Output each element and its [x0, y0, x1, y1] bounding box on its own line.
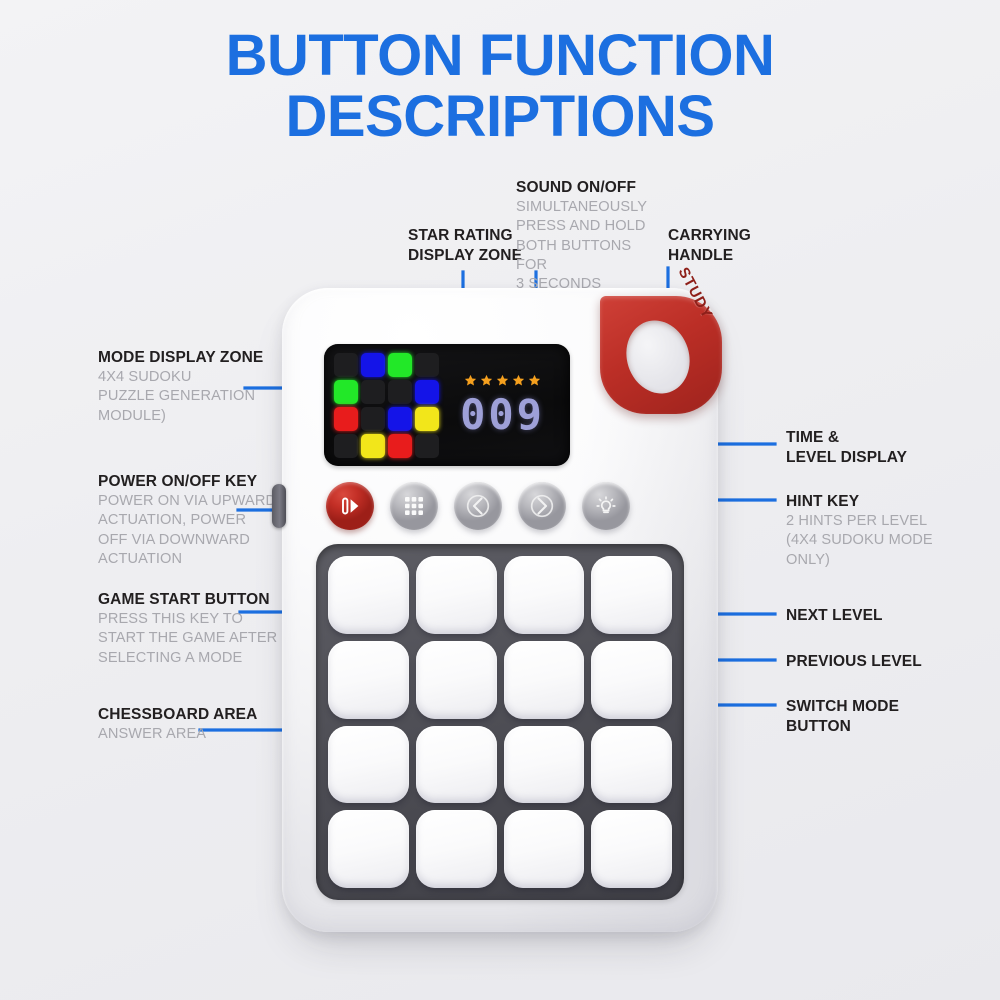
lightbulb-icon [594, 494, 618, 518]
chessboard-key[interactable] [328, 556, 409, 634]
next-heading: NEXT LEVEL [786, 606, 986, 626]
annotation-time-level-display: TIME &LEVEL DISPLAY [786, 428, 986, 468]
prev-heading: PREVIOUS LEVEL [786, 652, 986, 672]
chessboard-key[interactable] [504, 641, 585, 719]
star-rating-display [464, 374, 541, 387]
mode-cell-0-3 [415, 353, 439, 377]
start-body: PRESS THIS KEY TOSTART THE GAME AFTERSEL… [98, 610, 298, 668]
power-switch-slider[interactable] [272, 484, 286, 528]
chessboard-key[interactable] [328, 641, 409, 719]
play-pause-icon [337, 493, 363, 519]
chessboard-key[interactable] [591, 641, 672, 719]
mode-cell-1-0 [334, 380, 358, 404]
device-body: STUDY 009 [282, 288, 718, 932]
mode-cell-3-0 [334, 434, 358, 458]
mode-cell-1-2 [388, 380, 412, 404]
chevron-left-icon [465, 493, 491, 519]
chessboard-key[interactable] [416, 726, 497, 804]
level-digits: 009 [460, 394, 545, 436]
chessboard-key[interactable] [416, 641, 497, 719]
hint-button[interactable] [582, 482, 630, 530]
chevron-right-icon [529, 493, 555, 519]
mode-cell-1-3 [415, 380, 439, 404]
star-icon [464, 374, 477, 387]
mode-body: 4X4 SUDOKUPUZZLE GENERATIONMODULE) [98, 368, 278, 426]
annotation-power-key: POWER ON/OFF KEY POWER ON VIA UPWARDACTU… [98, 472, 284, 569]
mode-heading: MODE DISPLAY ZONE [98, 348, 278, 368]
annotation-star-rating: STAR RATINGDISPLAY ZONE [408, 226, 528, 266]
star-icon [512, 374, 525, 387]
grid-icon [403, 495, 425, 517]
mode-cell-0-1 [361, 353, 385, 377]
chessboard-key[interactable] [504, 556, 585, 634]
hint-body: 2 HINTS PER LEVEL(4X4 SUDOKU MODEONLY) [786, 512, 986, 570]
power-body: POWER ON VIA UPWARDACTUATION, POWEROFF V… [98, 492, 284, 570]
star-rating-heading: STAR RATINGDISPLAY ZONE [408, 226, 528, 266]
mode-cell-0-0 [334, 353, 358, 377]
carrying-handle[interactable]: STUDY [600, 296, 722, 414]
screen-right-panel: 009 [439, 374, 560, 436]
handle-heading: CARRYINGHANDLE [668, 226, 778, 266]
chessboard-key[interactable] [591, 726, 672, 804]
mode-cell-2-3 [415, 407, 439, 431]
annotation-mode-display-zone: MODE DISPLAY ZONE 4X4 SUDOKUPUZZLE GENER… [98, 348, 278, 426]
chessboard-key[interactable] [416, 810, 497, 888]
chessboard-key[interactable] [416, 556, 497, 634]
led-screen: 009 [324, 344, 570, 466]
mode-cell-3-3 [415, 434, 439, 458]
annotation-next-level: NEXT LEVEL [786, 606, 986, 626]
chessboard-heading: CHESSBOARD AREA [98, 705, 288, 725]
switch-heading: SWITCH MODEBUTTON [786, 697, 986, 737]
chessboard-key[interactable] [591, 556, 672, 634]
game-start-button[interactable] [326, 482, 374, 530]
annotation-sound-on-off: SOUND ON/OFF SIMULTANEOUSLYPRESS AND HOL… [516, 178, 666, 295]
annotation-carrying-handle: CARRYINGHANDLE [668, 226, 778, 266]
sound-heading: SOUND ON/OFF [516, 178, 666, 198]
previous-level-button[interactable] [454, 482, 502, 530]
mode-cell-2-2 [388, 407, 412, 431]
annotation-previous-level: PREVIOUS LEVEL [786, 652, 986, 672]
sound-body: SIMULTANEOUSLYPRESS AND HOLDBOTH BUTTONS… [516, 198, 666, 295]
mode-cell-1-1 [361, 380, 385, 404]
chessboard-key[interactable] [328, 810, 409, 888]
mode-display-grid [334, 353, 439, 458]
star-icon [528, 374, 541, 387]
annotation-game-start: GAME START BUTTON PRESS THIS KEY TOSTART… [98, 590, 298, 668]
mode-cell-3-2 [388, 434, 412, 458]
chessboard-key[interactable] [328, 726, 409, 804]
switch-mode-button[interactable] [390, 482, 438, 530]
next-level-button[interactable] [518, 482, 566, 530]
hint-heading: HINT KEY [786, 492, 986, 512]
control-button-row [326, 480, 678, 532]
mode-cell-2-0 [334, 407, 358, 431]
chessboard-key[interactable] [504, 726, 585, 804]
mode-cell-0-2 [388, 353, 412, 377]
start-heading: GAME START BUTTON [98, 590, 298, 610]
mode-cell-2-1 [361, 407, 385, 431]
infographic-stage: BUTTON FUNCTION DESCRIPTIONS [0, 0, 1000, 1000]
chessboard-key[interactable] [591, 810, 672, 888]
time-heading: TIME &LEVEL DISPLAY [786, 428, 986, 468]
star-icon [480, 374, 493, 387]
annotation-switch-mode-button: SWITCH MODEBUTTON [786, 697, 986, 737]
annotation-hint-key: HINT KEY 2 HINTS PER LEVEL(4X4 SUDOKU MO… [786, 492, 986, 570]
chessboard-key[interactable] [504, 810, 585, 888]
annotation-chessboard-area: CHESSBOARD AREA ANSWER AREA [98, 705, 288, 744]
chessboard-area [316, 544, 684, 900]
mode-cell-3-1 [361, 434, 385, 458]
star-icon [496, 374, 509, 387]
power-heading: POWER ON/OFF KEY [98, 472, 284, 492]
chessboard-body: ANSWER AREA [98, 725, 288, 744]
